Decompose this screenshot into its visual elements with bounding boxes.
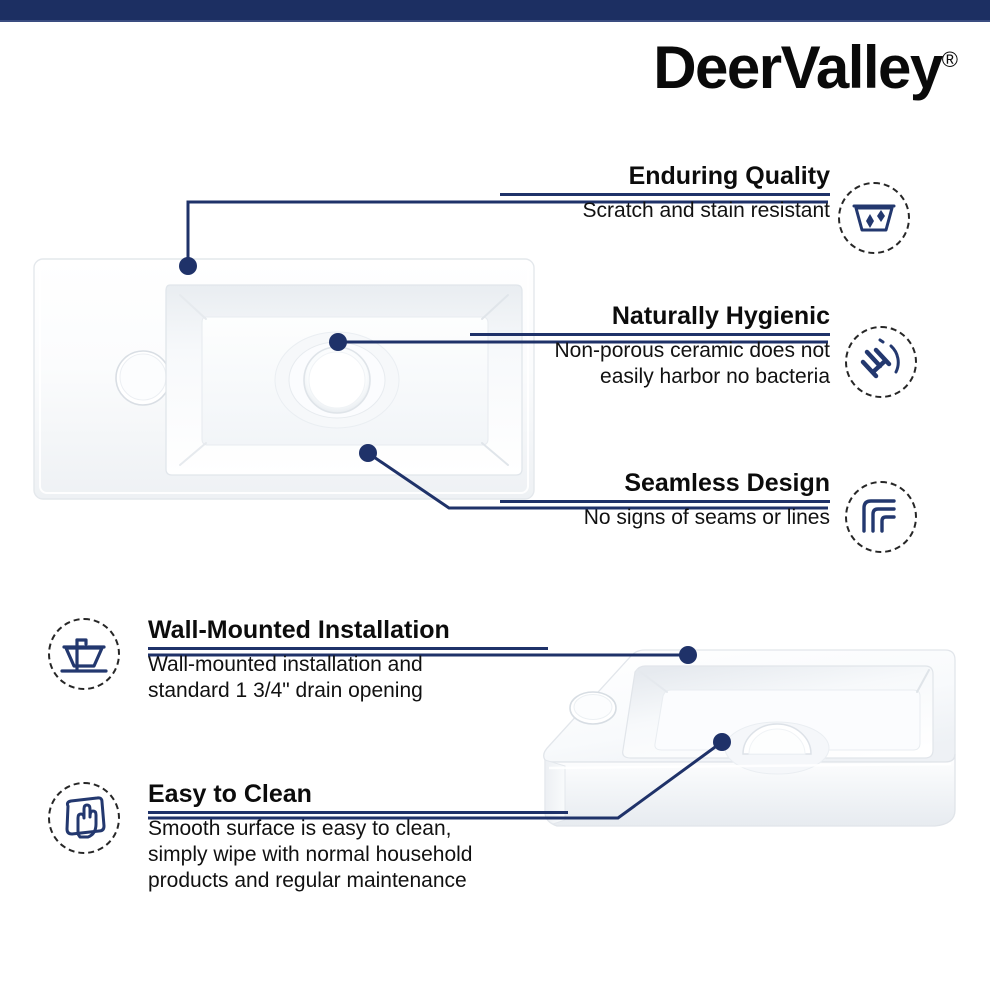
pedestal-sink-icon [48, 618, 120, 690]
brand-logo-name: DeerValley [653, 34, 942, 101]
top-banner-accent-line [0, 20, 990, 22]
callout-rule [470, 333, 830, 336]
callout-easy-to-clean: Easy to Clean Smooth surface is easy to … [148, 781, 568, 894]
callout-title: Seamless Design [500, 470, 830, 497]
callout-naturally-hygienic: Naturally Hygienic Non-porous ceramic do… [470, 303, 830, 390]
callout-description: Scratch and stain resistant [500, 198, 830, 224]
callout-rule [148, 647, 548, 650]
sink-angled-view [505, 630, 965, 880]
hand-wipe-icon [48, 782, 120, 854]
callout-description: Wall-mounted installation and standard 1… [148, 652, 548, 704]
callout-seamless-design: Seamless Design No signs of seams or lin… [500, 470, 830, 531]
callout-title: Easy to Clean [148, 781, 568, 808]
callout-wall-mounted-installation: Wall-Mounted Installation Wall-mounted i… [148, 617, 548, 704]
callout-enduring-quality: Enduring Quality Scratch and stain resis… [500, 163, 830, 224]
sparkle-basin-icon [838, 182, 910, 254]
sink-top-view [30, 255, 540, 505]
infographic-page: DeerValley® [0, 0, 990, 990]
callout-title: Enduring Quality [500, 163, 830, 190]
callout-rule [500, 193, 830, 196]
top-banner-bar [0, 0, 990, 20]
callout-rule [500, 500, 830, 503]
bacteria-icon [845, 326, 917, 398]
callout-title: Naturally Hygienic [470, 303, 830, 330]
brand-logo: DeerValley® [653, 38, 958, 98]
nested-corners-icon [845, 481, 917, 553]
registered-trademark-icon: ® [942, 47, 958, 72]
callout-title: Wall-Mounted Installation [148, 617, 548, 644]
callout-description: No signs of seams or lines [500, 505, 830, 531]
callout-rule [148, 811, 568, 814]
callout-description: Smooth surface is easy to clean, simply … [148, 816, 568, 894]
callout-description: Non-porous ceramic does not easily harbo… [470, 338, 830, 390]
